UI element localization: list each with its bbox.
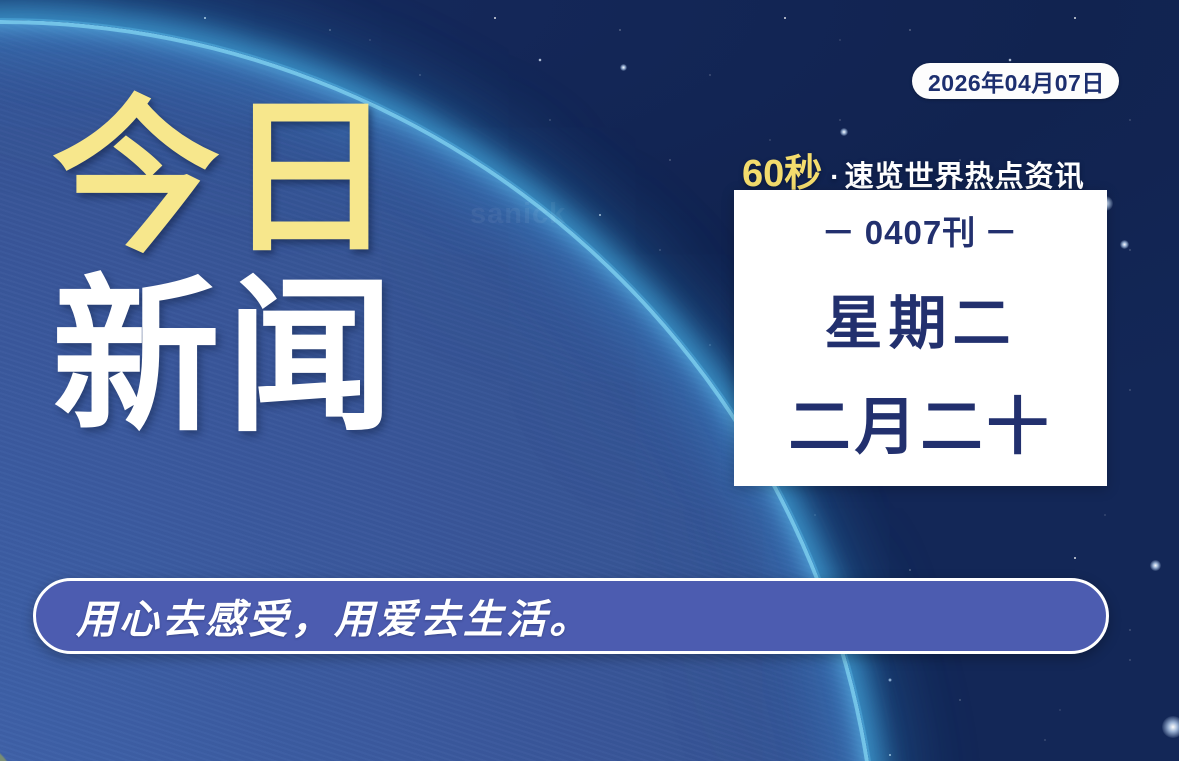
tagline-text: 速览世界热点资讯 [845,153,1085,195]
issue-dash-right: － [984,214,1019,251]
bright-star [1120,240,1129,249]
quote-text: 用心去感受，用爱去生活。 [76,587,592,645]
date-badge: 2026年04月07日 [912,63,1119,99]
watermark-text: sanick [470,198,566,231]
bright-star [1162,716,1179,738]
news-poster: sanick 2026年04月07日 今日 新闻 60秒 · 速览世界热点资讯 … [0,0,1179,761]
lunar-date-label: 二月二十 [788,376,1052,466]
tagline-seconds: 60秒 [742,142,822,197]
weekday-label: 星期二 [824,276,1016,360]
date-badge-label: 2026年04月07日 [928,64,1105,98]
quote-bar: 用心去感受，用爱去生活。 [33,578,1109,654]
page-title: 今日 新闻 [52,96,400,439]
tagline: 60秒 · 速览世界热点资讯 [742,142,1085,197]
tagline-separator: · [830,161,839,193]
bright-star [1150,560,1161,571]
issue-number: 0407刊 [865,214,976,251]
title-line-today: 今日 [52,96,400,261]
date-info-card: －0407刊－ 星期二 二月二十 [734,190,1107,486]
issue-row: －0407刊－ [822,206,1019,254]
issue-dash-left: － [822,214,857,251]
title-line-news: 新闻 [52,275,400,440]
